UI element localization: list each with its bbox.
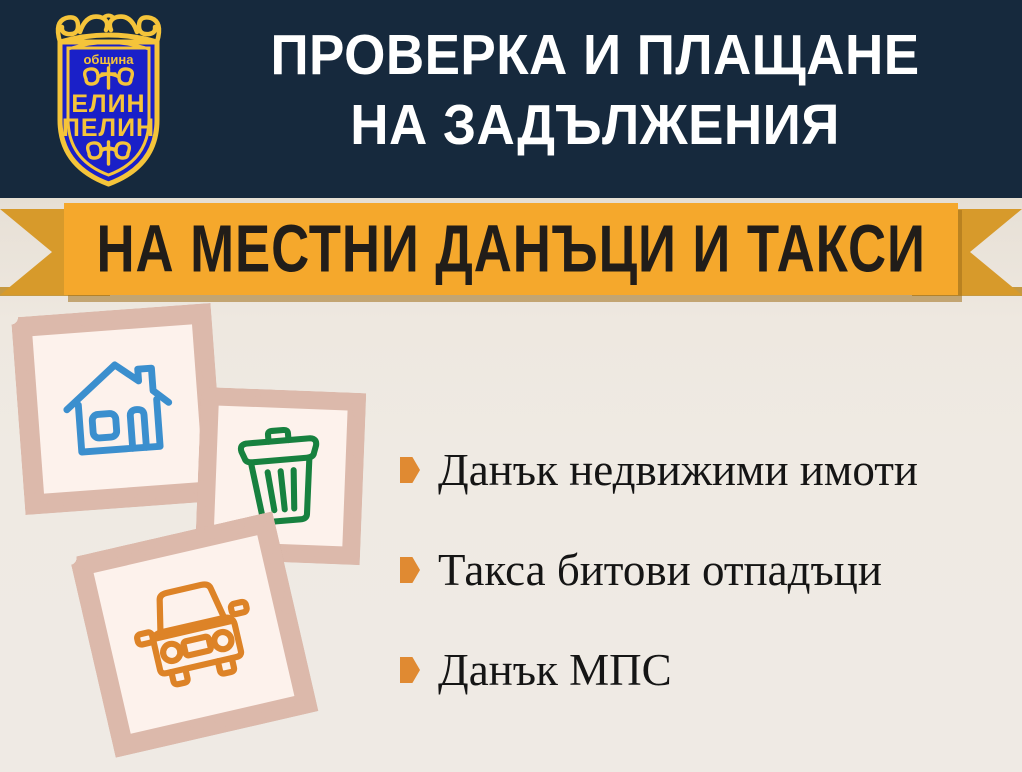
trash-can-icon	[231, 424, 331, 528]
header-title-block: ПРОВЕРКА И ПЛАЩАНЕ НА ЗАДЪЛЖЕНИЯ	[190, 20, 1000, 160]
header-bar: община ЕЛИН ПЕЛИН	[0, 0, 1022, 198]
page-title-line-2: НА ЗАДЪЛЖЕНИЯ	[218, 90, 971, 160]
poster-canvas: община ЕЛИН ПЕЛИН	[0, 0, 1022, 772]
stamp-paper	[32, 324, 203, 493]
stamp-real-estate-tax	[11, 303, 225, 515]
ribbon-band: НА МЕСТНИ ДАНЪЦИ И ТАКСИ	[64, 203, 958, 295]
list-item[interactable]: Такса битови отпадъци	[400, 520, 1010, 620]
crest-name-line-2: ПЕЛИН	[62, 114, 155, 142]
car-front-icon	[121, 567, 267, 702]
coat-of-arms: община ЕЛИН ПЕЛИН	[36, 8, 181, 190]
arrow-bullet-icon	[400, 657, 420, 683]
arrow-bullet-icon	[400, 457, 420, 483]
tax-type-list: Данък недвижими имоти Такса битови отпад…	[400, 420, 1010, 720]
arrow-bullet-icon	[400, 557, 420, 583]
subtitle-ribbon: НА МЕСТНИ ДАНЪЦИ И ТАКСИ	[0, 197, 1022, 305]
page-title-line-1: ПРОВЕРКА И ПЛАЩАНЕ	[218, 20, 971, 90]
crest-top-text: община	[83, 52, 134, 67]
list-item[interactable]: Данък недвижими имоти	[400, 420, 1010, 520]
house-icon	[55, 351, 181, 467]
list-item-label: Данък недвижими имоти	[438, 446, 918, 494]
stamp-paper	[94, 535, 295, 734]
list-item-label: Такса битови отпадъци	[438, 546, 882, 594]
stamp-collage	[0, 300, 420, 772]
list-item-label: Данък МПС	[438, 646, 672, 694]
ribbon-text: НА МЕСТНИ ДАНЪЦИ И ТАКСИ	[96, 215, 925, 282]
list-item[interactable]: Данък МПС	[400, 620, 1010, 720]
